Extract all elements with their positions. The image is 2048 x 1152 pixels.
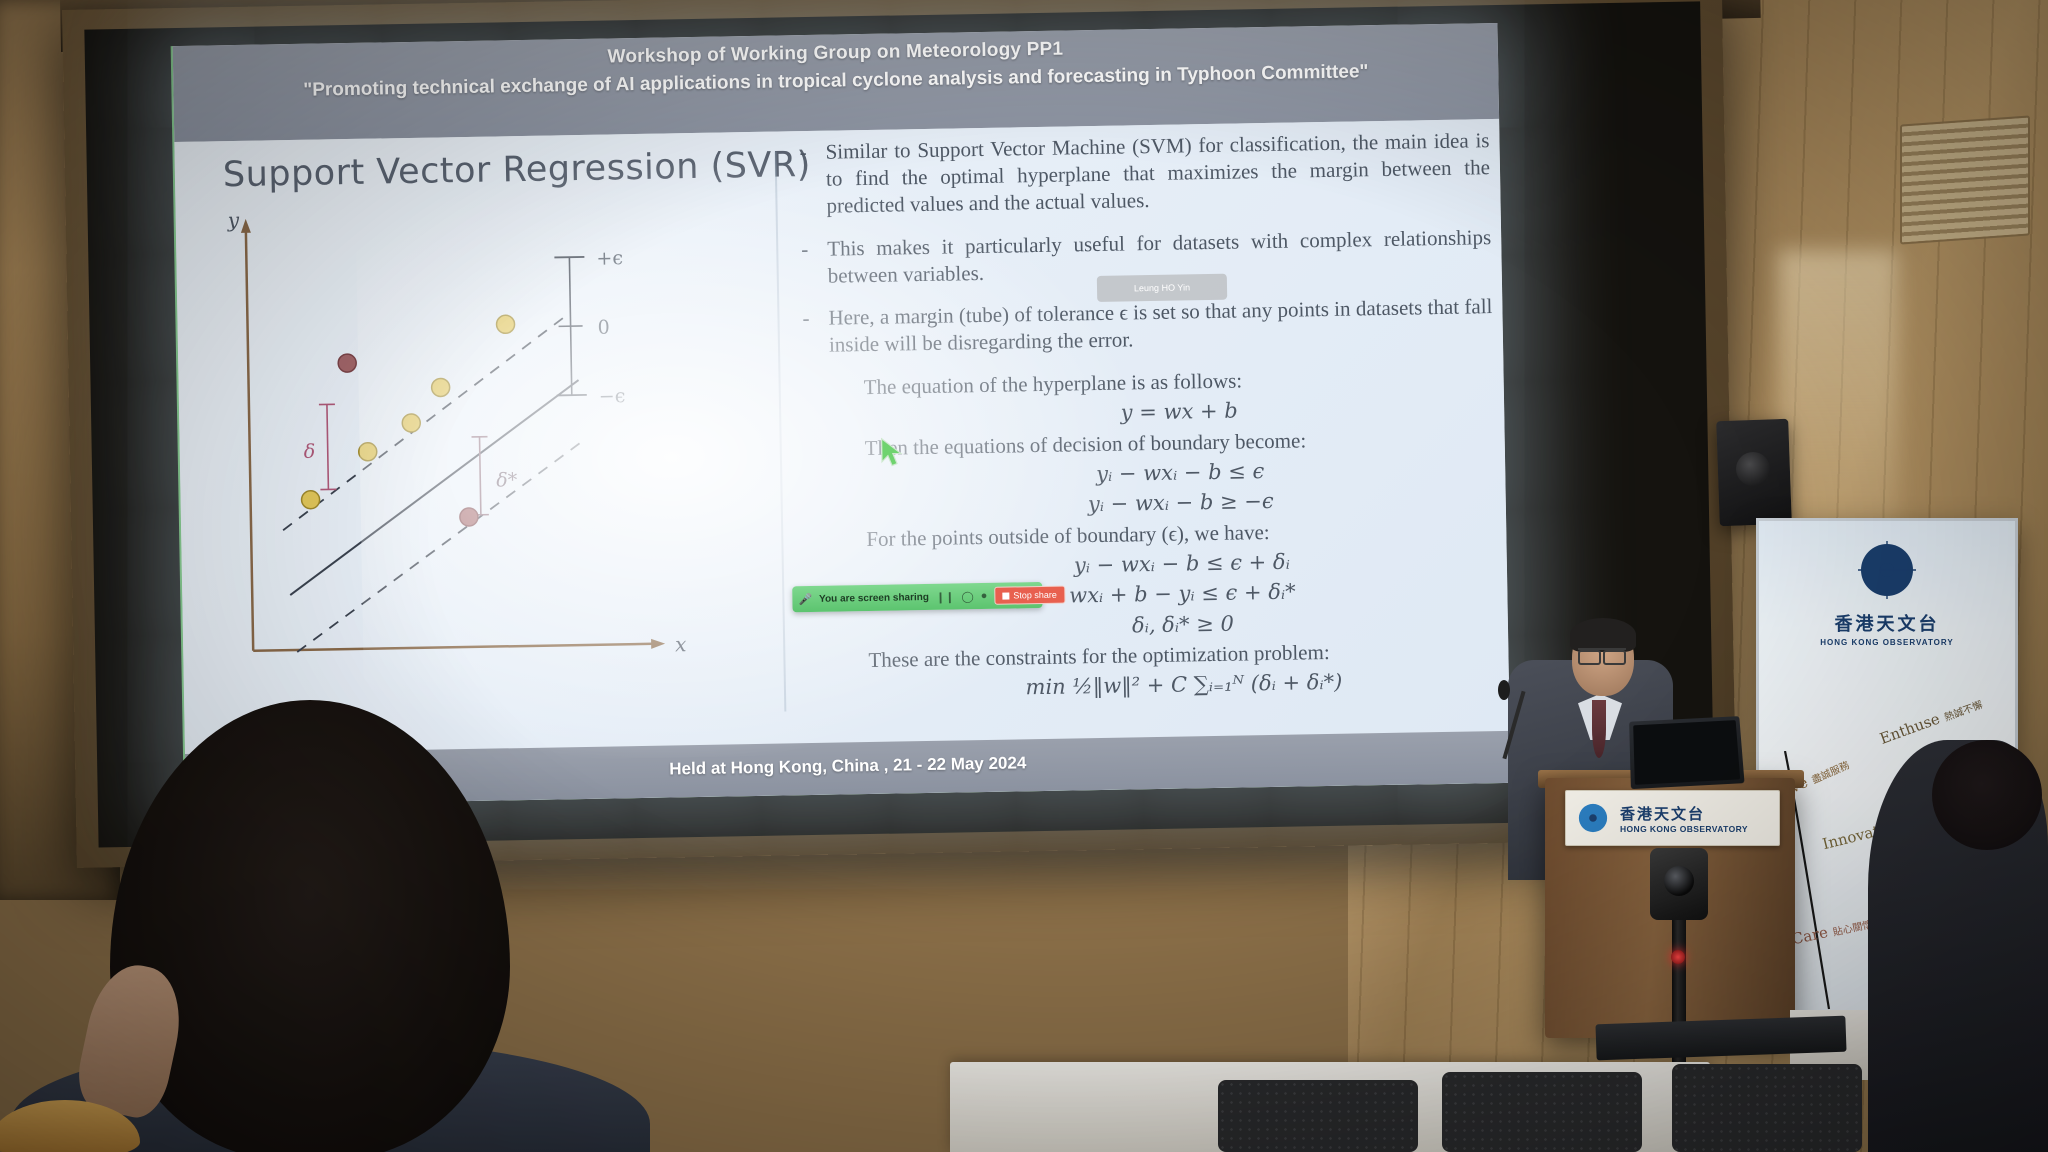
svg-text:δ*: δ*: [496, 469, 518, 491]
air-conditioning-grille: [1900, 115, 2030, 244]
rollup-logo-area: 香港天文台 HONG KONG OBSERVATORY: [1759, 521, 2015, 647]
page-title: Support Vector Regression (SVR): [223, 145, 812, 195]
pause-icon[interactable]: ❙❙: [936, 590, 955, 603]
bullet-marker: -: [799, 139, 810, 220]
chair: [1672, 1064, 1862, 1152]
podium-sign-cn: 香港天文台: [1620, 803, 1748, 824]
microphone-head: [1498, 680, 1510, 700]
microphone-icon[interactable]: 🎤: [798, 592, 812, 605]
svg-text:δ: δ: [304, 441, 316, 463]
rollup-en-name: HONG KONG OBSERVATORY: [1759, 638, 2015, 647]
podium-sign-en: HONG KONG OBSERVATORY: [1620, 824, 1748, 834]
hko-logo-icon: [1852, 535, 1922, 605]
slide-divider: [775, 152, 787, 712]
hko-logo-icon: [1574, 799, 1612, 837]
podium-sign-text: 香港天文台 HONG KONG OBSERVATORY: [1620, 803, 1748, 834]
pa-speaker-cone: [1736, 452, 1770, 486]
stop-share-button[interactable]: Stop share: [994, 586, 1065, 605]
presenter-laptop: [1629, 716, 1744, 789]
slide-text-column: - Similar to Support Vector Machine (SVM…: [799, 127, 1499, 708]
presenter-hair: [1570, 618, 1636, 652]
participant-name-chip: Leung HO Yin: [1097, 274, 1227, 302]
more-icon[interactable]: ●: [981, 590, 988, 602]
bullet-text: Similar to Support Vector Machine (SVM) …: [825, 127, 1490, 219]
camera-lens-icon: [1664, 866, 1694, 896]
presenter-tie: [1592, 700, 1606, 758]
presenter-glasses: [1578, 648, 1626, 658]
rollup-cn-name: 香港天文台: [1759, 610, 2015, 636]
chair: [1218, 1080, 1418, 1152]
annotate-icon[interactable]: ◯: [961, 590, 974, 603]
bullet-item: - Here, a margin (tube) of tolerance ϵ i…: [802, 293, 1493, 359]
slide-body: Support Vector Regression (SVR) y x: [174, 119, 1509, 754]
stop-icon: [1002, 592, 1009, 599]
podium-sign: 香港天文台 HONG KONG OBSERVATORY: [1565, 790, 1780, 846]
slogan-cn: 熱誠不懈: [1943, 700, 1984, 724]
chair: [1442, 1072, 1642, 1152]
screen-share-toolbar[interactable]: 🎤 You are screen sharing ❙❙ ◯ ● Stop sha…: [792, 582, 1042, 612]
projected-slide: Workshop of Working Group on Meteorology…: [173, 23, 1511, 806]
svg-text:x: x: [675, 632, 687, 656]
svg-text:−ϵ: −ϵ: [599, 385, 626, 407]
stop-share-label: Stop share: [1013, 590, 1057, 601]
svg-text:y: y: [226, 208, 239, 232]
audience-head-right: [1932, 740, 2042, 850]
bullet-marker: -: [801, 236, 812, 290]
svg-text:+ϵ: +ϵ: [596, 247, 623, 269]
svr-diagram: y x +ϵ: [215, 192, 769, 721]
camera-record-led: [1671, 950, 1685, 964]
bullet-item: - Similar to Support Vector Machine (SVM…: [799, 127, 1490, 220]
mouse-cursor: [880, 437, 907, 474]
bullet-text: Here, a margin (tube) of tolerance ϵ is …: [828, 293, 1493, 358]
screenshot-stage: Workshop of Working Group on Meteorology…: [0, 0, 2048, 1152]
share-status-text: You are screen sharing: [819, 591, 929, 604]
equation-block: The equation of the hyperplane is as fol…: [803, 363, 1499, 705]
bullet-marker: -: [802, 305, 813, 359]
svg-text:0: 0: [597, 316, 609, 338]
laptop-screen: [1633, 720, 1740, 785]
